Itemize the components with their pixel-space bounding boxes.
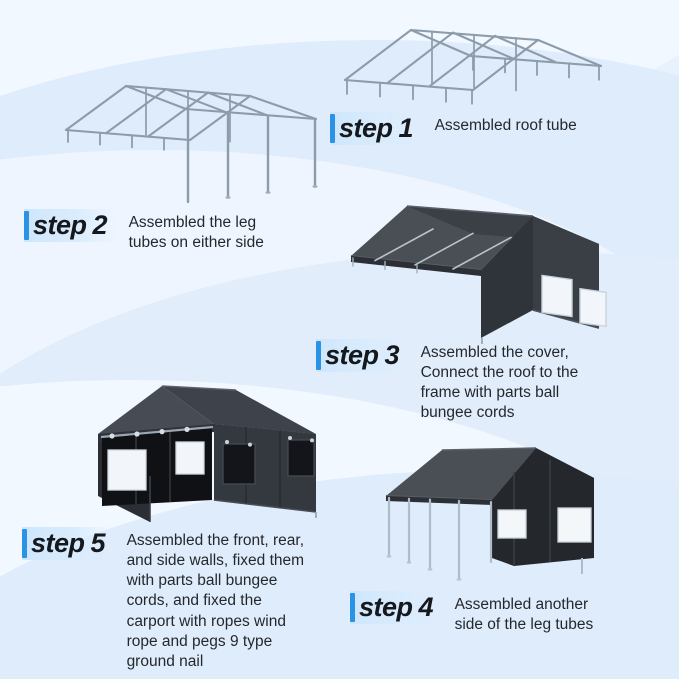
instruction-poster: step 1 Assembled roof tube step 2 Assemb…	[0, 0, 679, 679]
step-caption-5: step 5 Assembled the front, rear, and si…	[22, 527, 304, 672]
step-number: 4	[419, 593, 434, 621]
step-caption-2: step 2 Assembled the leg tubes on either…	[24, 209, 264, 253]
step-word: step	[339, 114, 393, 142]
step-number: 1	[399, 114, 414, 142]
step-chip-5: step 5	[22, 527, 114, 560]
step-caption-1: step 1 Assembled roof tube	[330, 112, 577, 145]
step-chip-4: step 4	[350, 591, 442, 624]
step-word: step	[31, 529, 85, 557]
step-description: Assembled the cover, Connect the roof to…	[421, 343, 579, 424]
step-accent-bar	[24, 211, 29, 240]
step-number: 3	[385, 341, 400, 369]
step-chip-1: step 1	[330, 112, 422, 145]
step-caption-4: step 4 Assembled another side of the leg…	[350, 591, 593, 635]
illustration-canopy-with-cover	[333, 200, 613, 345]
step-caption-3: step 3 Assembled the cover, Connect the …	[316, 339, 578, 424]
illustration-roof-tube-frame	[333, 18, 608, 113]
step-word: step	[325, 341, 379, 369]
step-number: 5	[91, 529, 106, 557]
step-description: Assembled another side of the leg tubes	[455, 595, 594, 635]
step-word: step	[33, 211, 87, 239]
step-number: 2	[93, 211, 108, 239]
illustration-enclosed-carport	[84, 372, 346, 535]
step-description: Assembled roof tube	[435, 116, 577, 136]
illustration-canopy-with-side-wall	[364, 438, 626, 590]
step-accent-bar	[22, 529, 27, 558]
step-chip-2: step 2	[24, 209, 116, 242]
step-word: step	[359, 593, 413, 621]
step-accent-bar	[330, 114, 335, 143]
step-accent-bar	[350, 593, 355, 622]
step-description: Assembled the leg tubes on either side	[129, 213, 264, 253]
step-chip-3: step 3	[316, 339, 408, 372]
step-description: Assembled the front, rear, and side wall…	[127, 531, 304, 672]
illustration-frame-with-legs	[62, 76, 327, 204]
step-accent-bar	[316, 341, 321, 370]
